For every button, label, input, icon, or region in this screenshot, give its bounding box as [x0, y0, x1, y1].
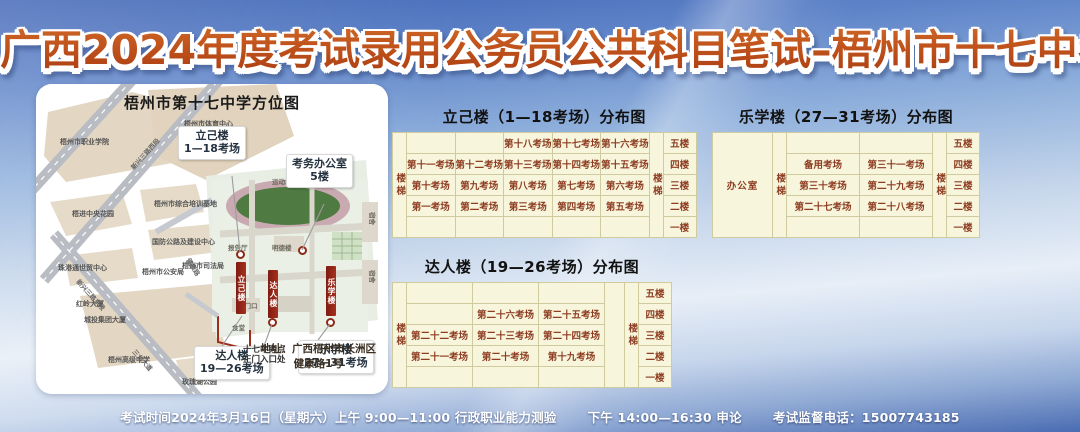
- cell: 第八考场: [504, 175, 553, 196]
- map-pin-liji: [236, 250, 245, 259]
- cell: [455, 217, 504, 238]
- cell: 第十二考场: [455, 154, 504, 175]
- dist-table-lexue: 办公室 楼梯 楼梯 五楼 备用考场 第三十一考场 四楼 第三十考场 第二十九考场…: [712, 132, 980, 238]
- cell: [407, 283, 473, 304]
- floor-label: 五楼: [639, 283, 672, 304]
- footer-bar: 考试时间2024年3月16日（星期六）上午 9:00—11:00 行政职业能力测…: [0, 407, 1080, 426]
- stair-left: 楼梯: [393, 283, 407, 388]
- table-row: 楼梯 楼梯 五楼: [393, 283, 672, 304]
- dist-table-daren: 楼梯 楼梯 五楼 第二十六考场 第二十五考场 四楼 第二十二考场 第二十三考场: [392, 282, 672, 388]
- cell: 第十九考场: [539, 346, 605, 367]
- cell: 第四考场: [552, 196, 601, 217]
- floor-label: 一楼: [663, 217, 696, 238]
- floor-label: 四楼: [663, 154, 696, 175]
- floor-label: 四楼: [947, 154, 980, 175]
- floor-label: 四楼: [639, 304, 672, 325]
- cell: [539, 283, 605, 304]
- footer-supervision-phone: 考试监督电话：15007743185: [773, 407, 960, 426]
- poster-root: 广西2024年度考试录用公务员公共科目笔试–梧州市十七中考点: [0, 0, 1080, 432]
- map-pin-lexue: [326, 318, 335, 327]
- office-cell: 办公室: [713, 133, 773, 238]
- cell: 第二十七考场: [787, 196, 860, 217]
- building-marker-daren: 达人楼: [268, 270, 278, 318]
- cell: [787, 133, 860, 154]
- svg-text:梧州市综合培训基地: 梧州市综合培训基地: [154, 199, 217, 208]
- floor-label: 一楼: [639, 367, 672, 388]
- cell: 第十五考场: [601, 154, 650, 175]
- cell: 第十考场: [407, 175, 456, 196]
- stair-right: 楼梯: [649, 133, 663, 238]
- table-row: 办公室 楼梯 楼梯 五楼: [713, 133, 980, 154]
- floor-label: 三楼: [639, 325, 672, 346]
- floor-label: 三楼: [663, 175, 696, 196]
- section-title-daren: 达人楼（19—26考场）分布图: [392, 256, 672, 277]
- cell: [407, 133, 456, 154]
- floor-label: 一楼: [947, 217, 980, 238]
- stair-right: 楼梯: [625, 283, 639, 388]
- map-pin-kaowu: [298, 246, 307, 255]
- cell: 第二十六考场: [473, 304, 539, 325]
- page-title: 广西2024年度考试录用公务员公共科目笔试–梧州市十七中考点: [0, 22, 1080, 78]
- cell: [860, 133, 933, 154]
- cell: 第二十四考场: [539, 325, 605, 346]
- map-title: 梧州市第十七中学方位图: [36, 92, 388, 113]
- cell: [552, 217, 601, 238]
- map-address: 地址：广西梧州市长洲区 健康路1号: [261, 342, 377, 372]
- svg-text:城投集团大厦: 城投集团大厦: [84, 315, 127, 324]
- poster-title-bar: 广西2024年度考试录用公务员公共科目笔试–梧州市十七中考点: [0, 22, 1080, 78]
- svg-text:国防公路及建设中心: 国防公路及建设中心: [152, 237, 215, 246]
- callout-kaowu: 考务办公室 5楼: [286, 154, 353, 188]
- map-pin-daren: [268, 318, 277, 327]
- cell: [407, 367, 473, 388]
- floor-label: 二楼: [947, 196, 980, 217]
- cell: 第十三考场: [504, 154, 553, 175]
- floor-label: 五楼: [663, 133, 696, 154]
- floor-label: 二楼: [639, 346, 672, 367]
- cell: 第七考场: [552, 175, 601, 196]
- cell: 第一考场: [407, 196, 456, 217]
- svg-text:宿舍: 宿舍: [368, 212, 377, 226]
- stair-left: 楼梯: [773, 133, 787, 238]
- cell: 第二十三考场: [473, 325, 539, 346]
- cell: 第二十五考场: [539, 304, 605, 325]
- cell: [473, 367, 539, 388]
- cell: [473, 283, 539, 304]
- footer-exam-time: 考试时间2024年3月16日（星期六）上午 9:00—11:00 行政职业能力测…: [120, 407, 556, 426]
- cell: [860, 217, 933, 238]
- cell: 第二十九考场: [860, 175, 933, 196]
- building-marker-lexue: 乐学楼: [326, 266, 336, 316]
- cell: [539, 367, 605, 388]
- svg-text:珠港通世贸中心: 珠港通世贸中心: [58, 263, 107, 272]
- section-title-lexue: 乐学楼（27—31考场）分布图: [712, 106, 980, 127]
- cell: 第六考场: [601, 175, 650, 196]
- cell: 第十四考场: [552, 154, 601, 175]
- cell: 第二十八考场: [860, 196, 933, 217]
- cell: [601, 217, 650, 238]
- cell: 第二考场: [455, 196, 504, 217]
- cell: [407, 304, 473, 325]
- cell: 第二十一考场: [407, 346, 473, 367]
- floor-label: 五楼: [947, 133, 980, 154]
- cell: 备用考场: [787, 154, 860, 175]
- svg-text:宿舍: 宿舍: [368, 270, 377, 284]
- cell: 第三十一考场: [860, 154, 933, 175]
- svg-text:梧州市公安局: 梧州市公安局: [142, 267, 184, 276]
- table-row: 楼梯 第十八考场 第十七考场 第十六考场 楼梯 五楼: [393, 133, 697, 154]
- stair-right: 楼梯: [933, 133, 947, 238]
- footer-afternoon: 下午 14:00—16:30 申论: [588, 407, 742, 426]
- cell: 第三考场: [504, 196, 553, 217]
- floor-label: 三楼: [947, 175, 980, 196]
- section-liji: 立己楼（1—18考场）分布图 楼梯 第十八考场 第十七考场 第十六考场 楼梯 五…: [392, 106, 697, 238]
- cell: [455, 133, 504, 154]
- svg-text:食堂: 食堂: [231, 323, 246, 332]
- cell: [504, 217, 553, 238]
- section-lexue: 乐学楼（27—31考场）分布图 办公室 楼梯 楼梯 五楼 备用考场 第三十一考场: [712, 106, 980, 238]
- cell: 第九考场: [455, 175, 504, 196]
- floor-label: 二楼: [663, 196, 696, 217]
- cell: 第十八考场: [504, 133, 553, 154]
- cell: 第二十考场: [473, 346, 539, 367]
- callout-liji: 立己楼 1—18考场: [178, 126, 246, 160]
- cell: [787, 217, 860, 238]
- dist-table-liji: 楼梯 第十八考场 第十七考场 第十六考场 楼梯 五楼 第十一考场 第十二考场 第…: [392, 132, 697, 238]
- cell: 第五考场: [601, 196, 650, 217]
- location-map-card: 梧州市职业学院 梧州市体育中心 梧州市综合培训基地 梧进中央花园 珠港通世贸中心…: [36, 84, 388, 394]
- svg-text:梧州市职业学院: 梧州市职业学院: [60, 137, 109, 146]
- cell: 第三十考场: [787, 175, 860, 196]
- corridor-cell: [605, 283, 625, 388]
- svg-text:梧进中央花园: 梧进中央花园: [72, 209, 114, 218]
- section-title-liji: 立己楼（1—18考场）分布图: [392, 106, 697, 127]
- section-daren: 达人楼（19—26考场）分布图 楼梯 楼梯 五楼: [392, 256, 672, 388]
- stair-left: 楼梯: [393, 133, 407, 238]
- cell: 第十一考场: [407, 154, 456, 175]
- building-marker-liji: 立己楼: [236, 262, 246, 314]
- svg-text:明德楼: 明德楼: [272, 243, 292, 252]
- cell: 第十六考场: [601, 133, 650, 154]
- cell: [407, 217, 456, 238]
- cell: 第十七考场: [552, 133, 601, 154]
- cell: 第二十二考场: [407, 325, 473, 346]
